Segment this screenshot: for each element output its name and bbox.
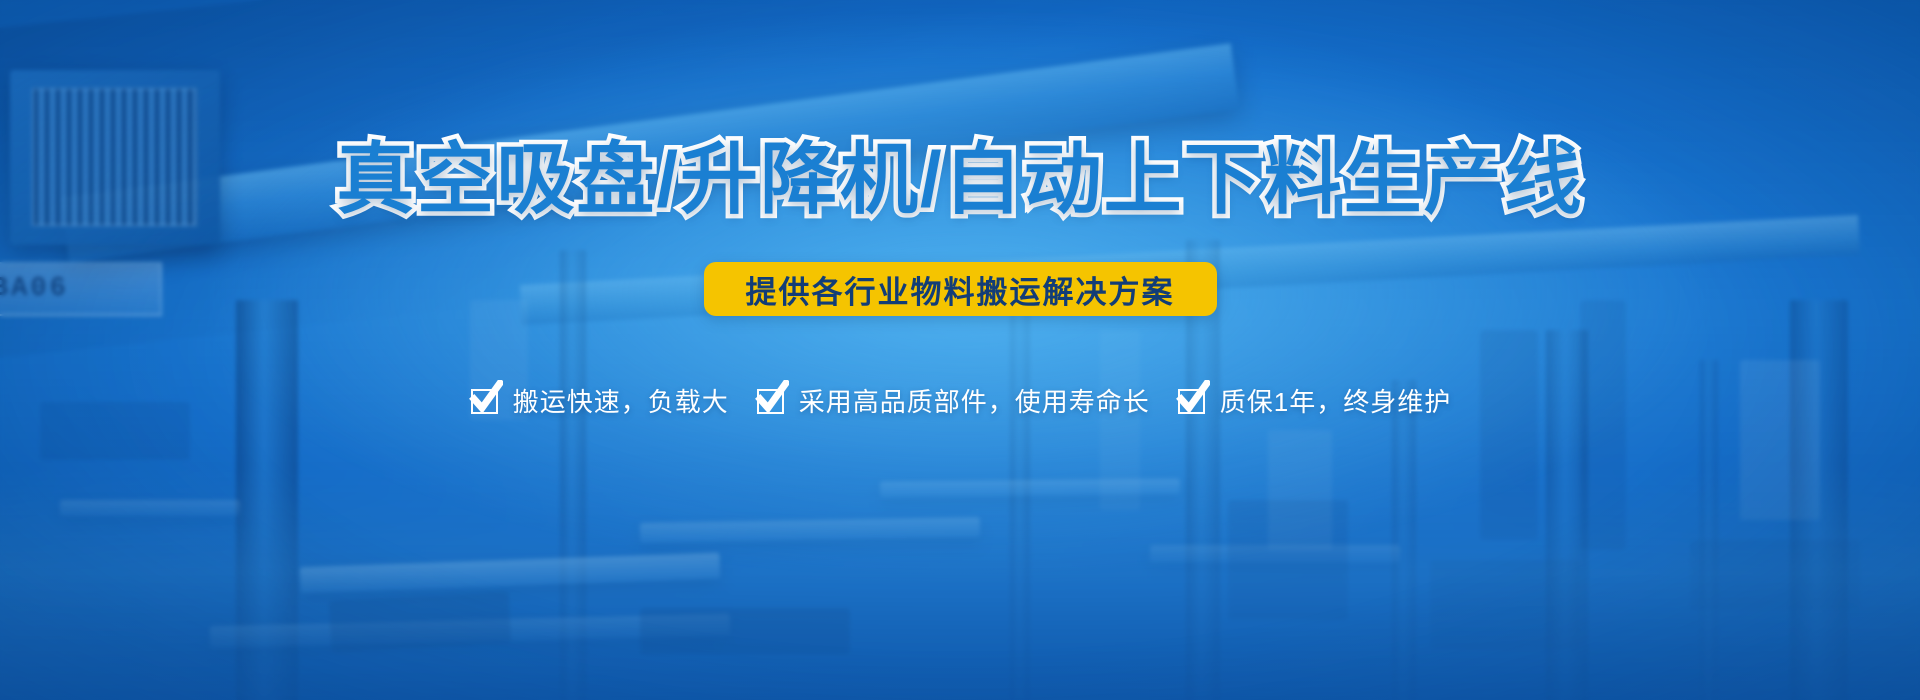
- feature-item: 搬运快速，负载大: [469, 382, 729, 419]
- banner-subtitle-pill: 提供各行业物料搬运解决方案: [704, 262, 1217, 316]
- feature-label: 采用高品质部件，使用寿命长: [799, 382, 1150, 419]
- checkbox-checked-icon: [469, 386, 503, 416]
- feature-label: 质保1年，终身维护: [1220, 382, 1451, 419]
- feature-item: 质保1年，终身维护: [1176, 382, 1451, 419]
- feature-list: 搬运快速，负载大 采用高品质部件，使用寿命长 质保1: [469, 382, 1452, 419]
- feature-label: 搬运快速，负载大: [513, 382, 729, 419]
- promo-banner: BA06 真空吸盘/: [0, 0, 1920, 700]
- banner-headline: 真空吸盘/升降机/自动上下料生产线: [336, 140, 1583, 218]
- feature-item: 采用高品质部件，使用寿命长: [755, 382, 1150, 419]
- banner-content: 真空吸盘/升降机/自动上下料生产线 提供各行业物料搬运解决方案 搬运快速，负载大: [0, 0, 1920, 700]
- checkbox-checked-icon: [755, 386, 789, 416]
- checkbox-checked-icon: [1176, 386, 1210, 416]
